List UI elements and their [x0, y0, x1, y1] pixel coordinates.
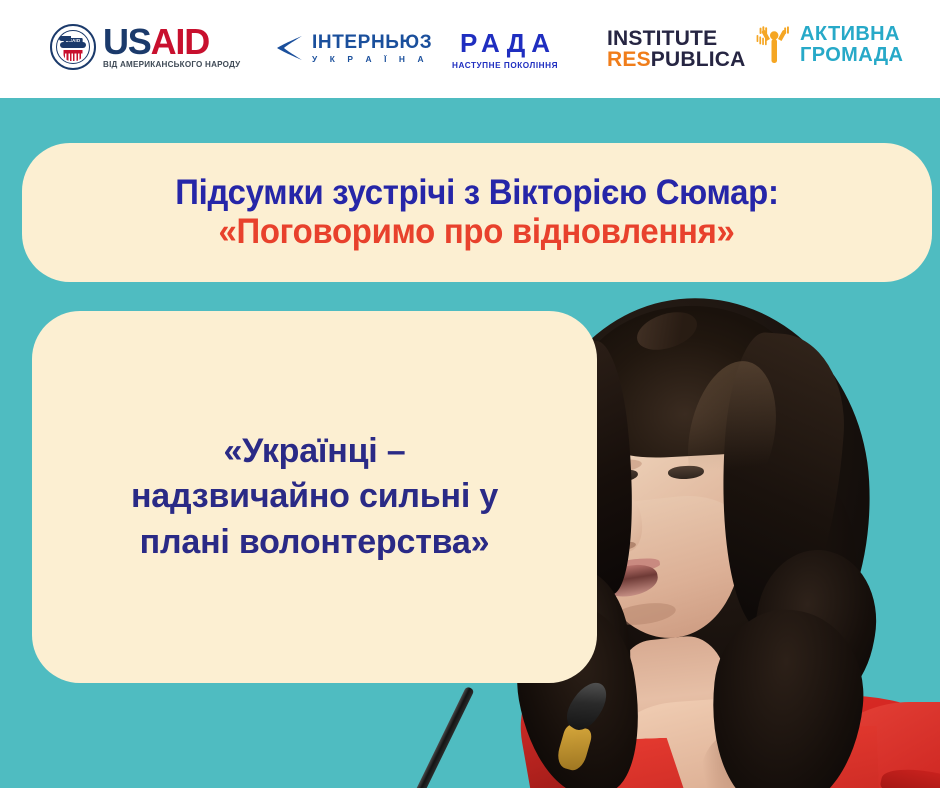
title-line-1: Підсумки зустрічі з Вікторією Сюмар:: [175, 173, 778, 212]
poster-canvas: USAID USAID ВІД АМЕРИКАНСЬКОГО НАРОДУ ІН…: [0, 0, 940, 788]
partner-logo-band: USAID USAID ВІД АМЕРИКАНСЬКОГО НАРОДУ ІН…: [0, 0, 940, 98]
usaid-wordmark: USAID ВІД АМЕРИКАНСЬКОГО НАРОДУ: [103, 25, 240, 69]
logo-usaid: USAID USAID ВІД АМЕРИКАНСЬКОГО НАРОДУ: [50, 24, 240, 70]
internews-chevron-icon: [272, 31, 306, 65]
usaid-seal-wings-icon: [60, 42, 86, 48]
usaid-word-us: US: [103, 21, 151, 62]
title-line-2: «Поговоримо про відновлення»: [219, 212, 735, 253]
internews-wordmark: ІНТЕРНЬЮЗ У К Р А Ї Н А: [312, 33, 432, 63]
rada-line2: НАСТУПНЕ ПОКОЛІННЯ: [452, 61, 558, 70]
quote-card: «Українці – надзвичайно сильні у плані в…: [32, 311, 597, 683]
title-card: Підсумки зустрічі з Вікторією Сюмар: «По…: [22, 143, 932, 282]
usaid-seal-icon: USAID: [50, 24, 96, 70]
raised-hands-person-icon: [753, 25, 795, 65]
logo-rada: РАДА НАСТУПНЕ ПОКОЛІННЯ: [452, 30, 558, 70]
quote-text: «Українці – надзвичайно сильні у плані в…: [131, 429, 498, 566]
rada-line1: РАДА: [454, 30, 556, 56]
respublica-line2: RESPUBLICA: [607, 49, 746, 70]
usaid-seal-shield-icon: [64, 50, 83, 61]
logo-institute-respublica: INSTITUTE RESPUBLICA: [607, 28, 746, 71]
respublica-line1: INSTITUTE: [607, 28, 717, 49]
internews-line1: ІНТЕРНЬЮЗ: [312, 33, 432, 52]
logo-internews-ukraine: ІНТЕРНЬЮЗ У К Р А Ї Н А: [272, 31, 432, 65]
usaid-word-aid: AID: [151, 21, 209, 62]
microphone-stem: [352, 686, 474, 788]
usaid-word: USAID: [103, 25, 240, 58]
logo-aktyvna-hromada: АКТИВНА ГРОМАДА: [753, 24, 903, 66]
hromada-wordmark: АКТИВНА ГРОМАДА: [800, 24, 903, 66]
usaid-tagline: ВІД АМЕРИКАНСЬКОГО НАРОДУ: [103, 61, 240, 69]
hromada-line1: АКТИВНА: [800, 24, 903, 45]
respublica-res: RES: [607, 48, 651, 71]
hromada-line2: ГРОМАДА: [800, 45, 903, 66]
respublica-publica: PUBLICA: [651, 48, 746, 71]
internews-line2: У К Р А Ї Н А: [312, 55, 432, 63]
